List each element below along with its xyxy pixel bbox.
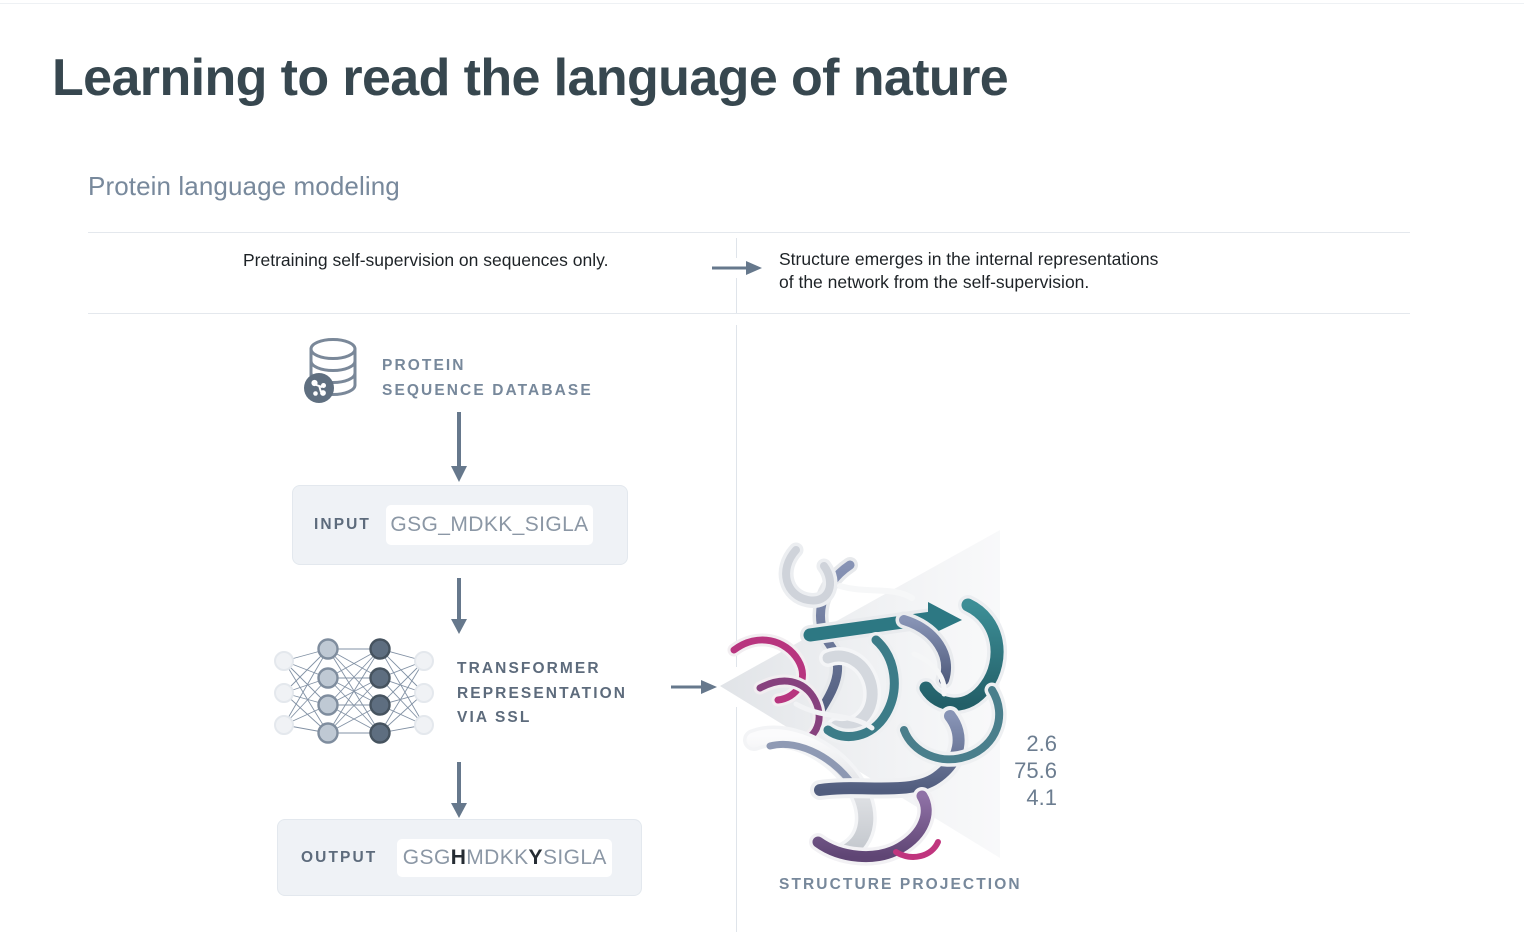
- vertical-divider-segment: [736, 238, 737, 258]
- caption-left: Pretraining self-supervision on sequence…: [243, 248, 693, 272]
- input-label: INPUT: [314, 516, 371, 534]
- database-label: PROTEIN SEQUENCE DATABASE: [382, 353, 593, 403]
- protein-structure-projection: [700, 490, 1080, 890]
- output-sequence-value[interactable]: GSGHMDKKYSIGLA: [397, 839, 612, 877]
- arrow-down-icon: [447, 412, 471, 484]
- transformer-label-line-3: VIA SSL: [457, 706, 627, 731]
- vertical-divider-segment: [736, 278, 737, 313]
- projection-value-3: 4.1: [985, 784, 1057, 811]
- caption-right-line-1: Structure emerges in the internal repres…: [779, 248, 1299, 271]
- divider-bottom: [88, 313, 1410, 314]
- database-label-line-1: PROTEIN: [382, 353, 593, 378]
- output-card[interactable]: OUTPUT GSGHMDKKYSIGLA: [277, 819, 642, 896]
- projection-value-2: 75.6: [985, 757, 1057, 784]
- top-hairline: [0, 3, 1524, 4]
- projection-values: 2.6 75.6 4.1: [985, 730, 1057, 811]
- structure-projection-caption: STRUCTURE PROJECTION: [779, 876, 1022, 894]
- arrow-down-icon: [447, 578, 471, 636]
- transformer-label: TRANSFORMER REPRESENTATION VIA SSL: [457, 657, 627, 731]
- transformer-label-line-2: REPRESENTATION: [457, 682, 627, 707]
- transformer-label-line-1: TRANSFORMER: [457, 657, 627, 682]
- divider-top: [88, 232, 1410, 233]
- arrow-down-icon: [447, 762, 471, 820]
- database-label-line-2: SEQUENCE DATABASE: [382, 378, 593, 403]
- input-card[interactable]: INPUT GSG_MDKK_SIGLA: [292, 485, 628, 565]
- output-label: OUTPUT: [301, 849, 377, 867]
- projection-value-1: 2.6: [985, 730, 1057, 757]
- caption-right-line-2: of the network from the self-supervision…: [779, 271, 1299, 294]
- caption-right: Structure emerges in the internal repres…: [779, 248, 1299, 294]
- section-heading: Protein language modeling: [88, 168, 400, 204]
- input-sequence-value[interactable]: GSG_MDKK_SIGLA: [386, 505, 593, 545]
- database-molecule-icon: [303, 336, 361, 404]
- neural-network-icon: [266, 637, 442, 749]
- page-title: Learning to read the language of nature: [52, 45, 1008, 111]
- arrow-right-icon: [712, 258, 764, 278]
